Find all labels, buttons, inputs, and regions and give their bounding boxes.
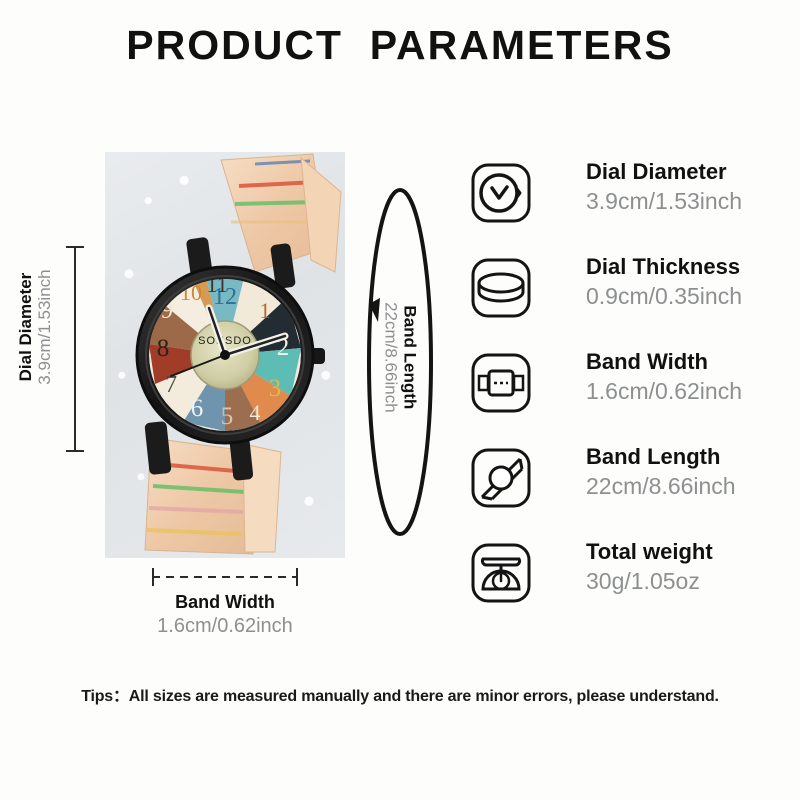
spec-label: Band Width (586, 348, 742, 377)
spec-row-dial-thickness: Dial Thickness 0.9cm/0.35inch (470, 253, 790, 348)
spec-row-band-width: Band Width 1.6cm/0.62inch (470, 348, 790, 443)
band-width-callout-label: Band Width (120, 592, 330, 614)
dial-diameter-callout-value: 3.9cm/1.53inch (35, 222, 54, 432)
spec-value: 30g/1.05oz (586, 567, 713, 597)
band-width-dimension-line (152, 576, 298, 578)
watch-dial-icon (470, 162, 532, 224)
spec-value: 0.9cm/0.35inch (586, 282, 742, 312)
spec-value: 22cm/8.66inch (586, 472, 736, 502)
svg-text:6: 6 (191, 395, 204, 422)
svg-text:5: 5 (221, 403, 234, 430)
band-width-callout: Band Width 1.6cm/0.62inch (120, 592, 330, 638)
band-width-callout-value: 1.6cm/0.62inch (120, 614, 330, 638)
spec-value: 3.9cm/1.53inch (586, 187, 742, 217)
svg-text:4: 4 (250, 400, 261, 425)
svg-text:1: 1 (260, 298, 271, 323)
kitchen-scale-icon (470, 542, 532, 604)
page-title: PRODUCT PARAMETERS (0, 22, 800, 69)
svg-text:8: 8 (157, 335, 170, 362)
spec-label: Total weight (586, 538, 713, 567)
buckle-width-icon (470, 352, 532, 414)
tips-note: Tips：All sizes are measured manually and… (0, 682, 800, 706)
spec-row-band-length: Band Length 22cm/8.66inch (470, 443, 790, 538)
svg-text:3: 3 (269, 375, 282, 402)
spec-value: 1.6cm/0.62inch (586, 377, 742, 407)
spec-label: Dial Diameter (586, 158, 742, 187)
spec-list: Dial Diameter 3.9cm/1.53inch Dial Thickn… (470, 158, 790, 633)
spec-label: Dial Thickness (586, 253, 742, 282)
spec-row-total-weight: Total weight 30g/1.05oz (470, 538, 790, 633)
dial-diameter-callout: Dial Diameter 3.9cm/1.53inch (34, 246, 78, 452)
spec-label: Band Length (586, 443, 736, 472)
spec-row-dial-diameter: Dial Diameter 3.9cm/1.53inch (470, 158, 790, 253)
product-parameters-page: PRODUCT PARAMETERS (0, 0, 800, 800)
puck-thickness-icon (470, 257, 532, 319)
band-length-callout: Band Length 22cm/8.66inch (358, 186, 442, 538)
band-length-callout-label: Band Length (400, 227, 419, 487)
band-length-callout-value: 22cm/8.66inch (381, 227, 400, 487)
product-photo: 12 1 2 3 4 5 6 7 8 9 10 11 SONSDO (105, 152, 345, 558)
dial-diameter-callout-label: Dial Diameter (16, 222, 35, 432)
watch-strap-icon (470, 447, 532, 509)
